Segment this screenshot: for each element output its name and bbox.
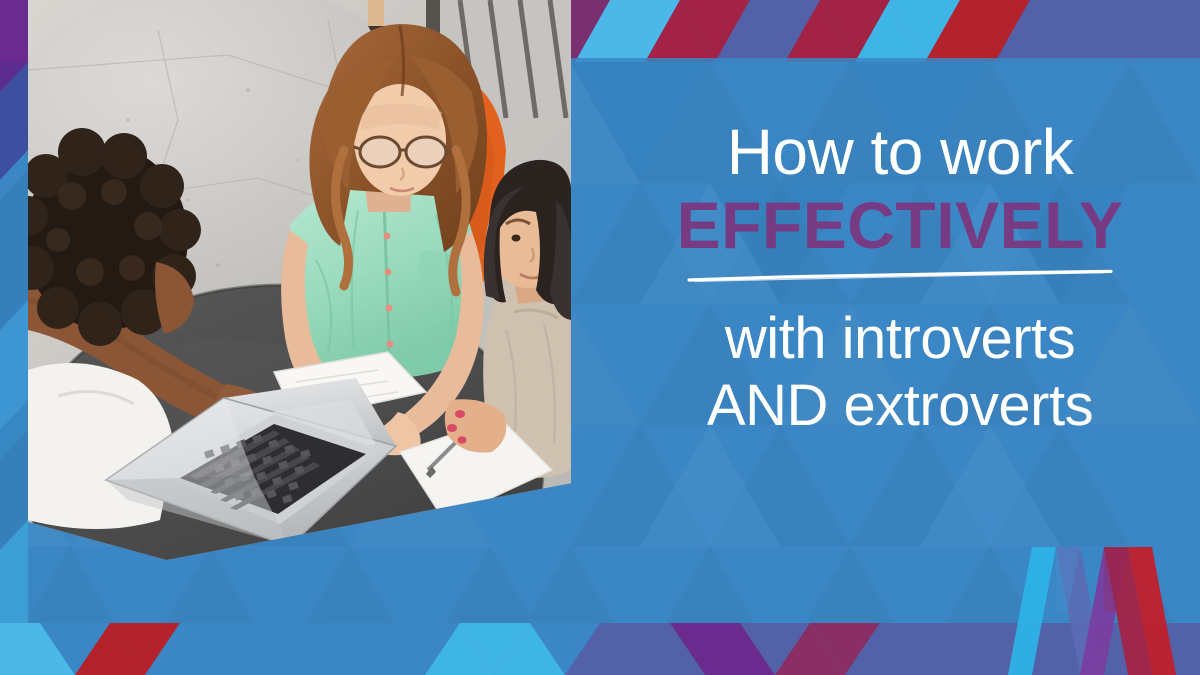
subtitle-line-2: AND extroverts: [640, 372, 1160, 439]
brush-underline: [685, 269, 1115, 283]
title-line-1: How to work: [640, 120, 1160, 184]
edge-strip-left: [0, 0, 28, 675]
subtitle-line-1: with introverts: [640, 305, 1160, 372]
slide-canvas: How to work EFFECTIVELY with introverts …: [0, 0, 1200, 675]
hero-photo: [28, 0, 571, 560]
title-line-2: EFFECTIVELY: [640, 184, 1160, 267]
m-monogram-logo: [998, 535, 1188, 675]
headline-block: How to work EFFECTIVELY with introverts …: [640, 120, 1160, 439]
